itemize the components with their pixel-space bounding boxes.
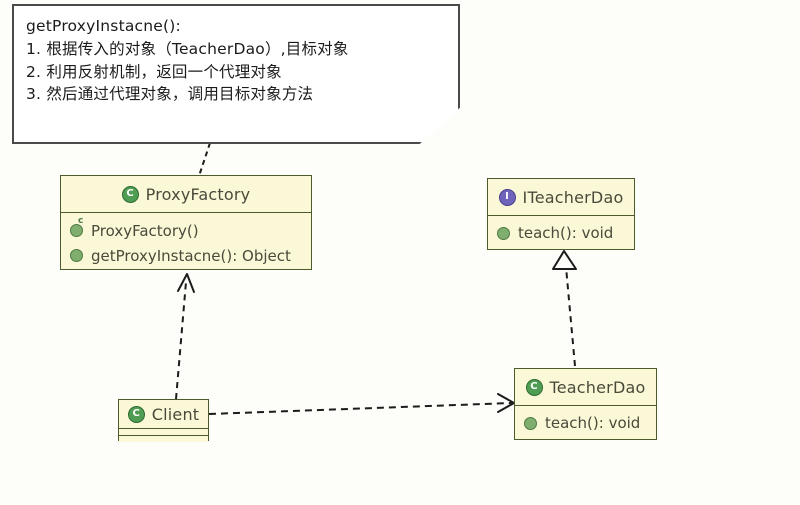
client-attributes-compartment <box>119 428 208 435</box>
note-line-2: 2. 利用反射机制，返回一个代理对象 <box>26 61 446 84</box>
class-box-client[interactable]: Client <box>118 399 209 441</box>
class-name-teacherdao: TeacherDao <box>550 378 646 397</box>
member-label: teach(): void <box>518 224 613 242</box>
teacherdao-members: teach(): void <box>515 405 656 439</box>
note-line-0: getProxyInstacne(): <box>26 15 446 38</box>
class-box-proxyfactory[interactable]: ProxyFactory ProxyFactory() getProxyInst… <box>60 175 312 270</box>
note-anchor-line <box>199 143 210 176</box>
class-box-iteacherdao[interactable]: ITeacherDao teach(): void <box>487 178 635 250</box>
teacherdao-to-iteacherdao-line <box>566 267 575 366</box>
proxyfactory-members: ProxyFactory() getProxyInstacne(): Objec… <box>61 212 311 269</box>
method-icon <box>497 227 510 240</box>
class-name-proxyfactory: ProxyFactory <box>146 185 251 204</box>
realization-triangle <box>553 251 576 269</box>
constructor-icon <box>70 224 83 237</box>
proxyfactory-header: ProxyFactory <box>61 176 311 212</box>
member-row[interactable]: getProxyInstacne(): Object <box>61 243 311 268</box>
note-line-3: 3. 然后通过代理对象，调用目标对象方法 <box>26 83 446 106</box>
iteacherdao-header: ITeacherDao <box>488 179 634 215</box>
interface-icon <box>499 189 516 206</box>
note-box: getProxyInstacne(): 1. 根据传入的对象（TeacherDa… <box>12 4 460 144</box>
client-operations-compartment <box>119 435 208 442</box>
client-to-teacherdao-arrowhead <box>498 394 514 412</box>
note-line-1: 1. 根据传入的对象（TeacherDao）,目标对象 <box>26 38 446 61</box>
teacherdao-header: TeacherDao <box>515 369 656 405</box>
member-label: getProxyInstacne(): Object <box>91 247 291 265</box>
member-row[interactable]: teach(): void <box>515 411 656 435</box>
client-to-proxyfactory-line <box>176 282 186 399</box>
member-label: ProxyFactory() <box>91 222 199 240</box>
member-row[interactable]: ProxyFactory() <box>61 218 311 243</box>
note-text: getProxyInstacne(): 1. 根据传入的对象（TeacherDa… <box>14 6 458 106</box>
iteacherdao-members: teach(): void <box>488 215 634 249</box>
method-icon <box>524 417 537 430</box>
diagram-canvas: getProxyInstacne(): 1. 根据传入的对象（TeacherDa… <box>0 0 800 505</box>
client-to-teacherdao-line <box>209 403 512 414</box>
class-name-client: Client <box>152 405 200 424</box>
member-row[interactable]: teach(): void <box>488 221 634 245</box>
client-to-proxyfactory-arrowhead <box>178 274 194 292</box>
class-icon <box>122 186 139 203</box>
class-icon <box>526 379 543 396</box>
client-header: Client <box>119 400 208 428</box>
class-icon <box>128 406 145 423</box>
member-label: teach(): void <box>545 414 640 432</box>
method-icon <box>70 249 83 262</box>
class-box-teacherdao[interactable]: TeacherDao teach(): void <box>514 368 657 440</box>
class-name-iteacherdao: ITeacherDao <box>523 188 624 207</box>
